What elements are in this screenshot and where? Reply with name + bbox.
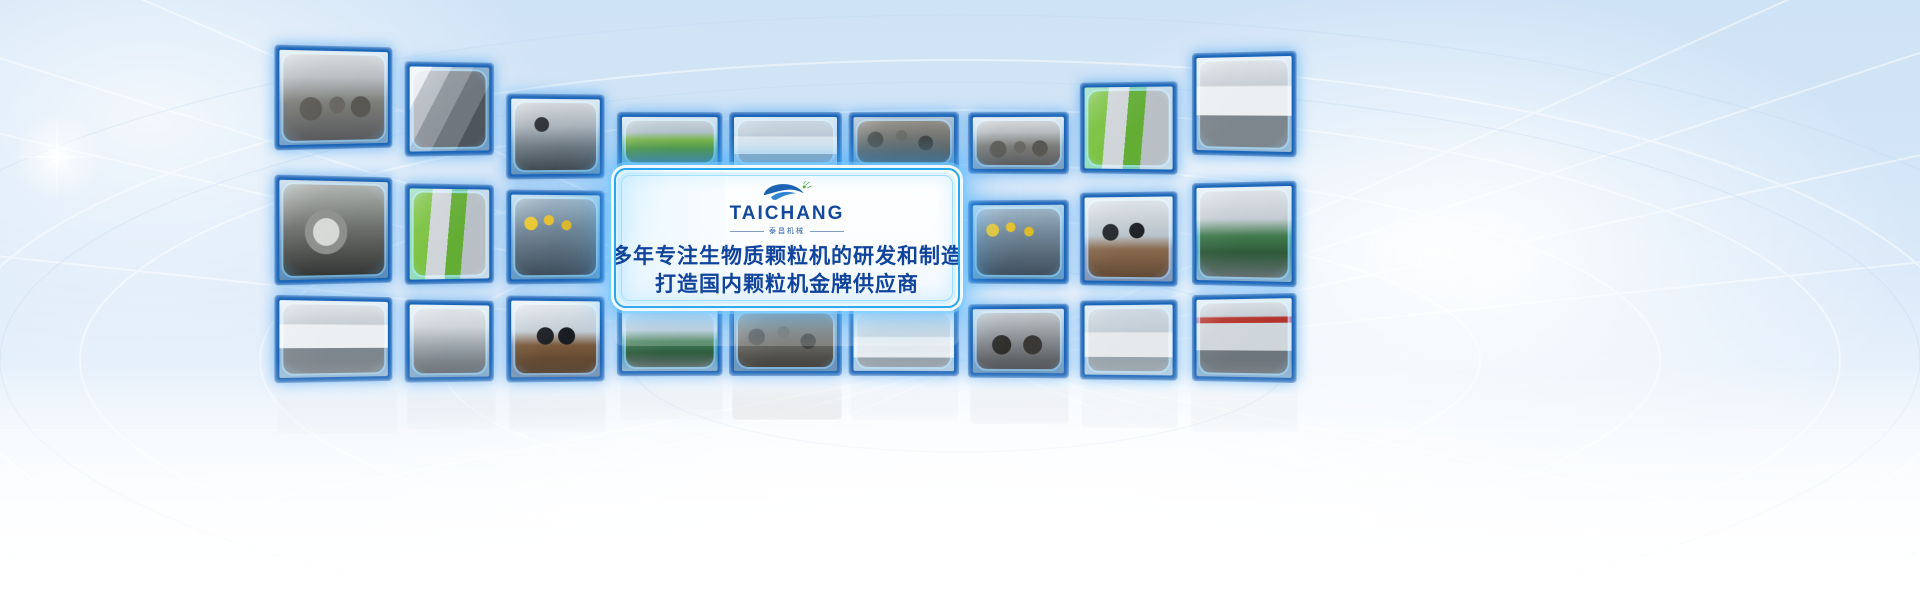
tile-reflection xyxy=(620,378,723,420)
tile-office-meeting xyxy=(1080,191,1178,286)
headline-line-1: 多年专注生物质颗粒机的研发和制造 xyxy=(614,243,960,271)
tile-worker-lathe xyxy=(506,93,604,179)
tile-handshake-meeting xyxy=(506,295,604,382)
tile-reflection xyxy=(509,384,606,432)
tile-cnc-workshop xyxy=(274,295,392,383)
logo-rule-right xyxy=(810,231,844,232)
tile-reflection xyxy=(732,378,842,420)
tile-green-pellet-machine xyxy=(617,112,723,172)
logo-subtitle: 泰昌机械 xyxy=(730,226,844,236)
promo-banner: TAICHANG 泰昌机械 多年专注生物质颗粒机的研发和制造 打造国内颗粒机金牌… xyxy=(0,0,1920,590)
tile-machining-center xyxy=(617,304,723,376)
tile-metal-blade xyxy=(405,61,494,157)
logo-rule-left xyxy=(730,231,764,232)
tile-reflection xyxy=(407,384,496,430)
tile-assembly-hall xyxy=(849,304,960,376)
taichang-swoosh-mark xyxy=(759,181,815,203)
tile-workshop-overview xyxy=(1192,181,1297,288)
tile-green-equipment xyxy=(1080,81,1178,174)
tile-reflection xyxy=(851,378,959,420)
tile-inspection-team xyxy=(968,200,1069,285)
headline-text: 多年专注生物质颗粒机的研发和制造 打造国内颗粒机金牌供应商 xyxy=(614,243,960,298)
video-wall xyxy=(0,0,1920,590)
tile-roller-stock xyxy=(849,112,960,172)
tile-ring-die xyxy=(274,174,392,285)
logo-chinese-name: 泰昌机械 xyxy=(769,226,805,236)
tile-red-banner-shop xyxy=(1192,293,1297,383)
tile-gearbox-units xyxy=(968,112,1069,175)
tile-factory-building xyxy=(729,112,842,172)
tile-green-machine-line xyxy=(405,183,494,285)
tile-workers-helmets xyxy=(506,189,604,284)
tile-bearing-stack xyxy=(729,304,842,376)
tile-reflection xyxy=(1081,382,1178,428)
logo-wordmark: TAICHANG xyxy=(730,204,845,223)
tile-tyre-rolls xyxy=(968,304,1069,379)
tile-reflection xyxy=(277,384,397,434)
tile-reflection xyxy=(1191,384,1298,432)
tile-plant-exterior xyxy=(1080,299,1178,380)
headline-panel: TAICHANG 泰昌机械 多年专注生物质颗粒机的研发和制造 打造国内颗粒机金牌… xyxy=(614,168,960,308)
tile-reflection xyxy=(970,380,1069,424)
tile-cnc-operator xyxy=(1192,51,1297,158)
tile-gear-assembly xyxy=(274,45,392,151)
tile-ring-fixture xyxy=(405,299,494,382)
brand-logo: TAICHANG 泰昌机械 xyxy=(730,181,845,236)
headline-line-2: 打造国内颗粒机金牌供应商 xyxy=(614,271,960,299)
